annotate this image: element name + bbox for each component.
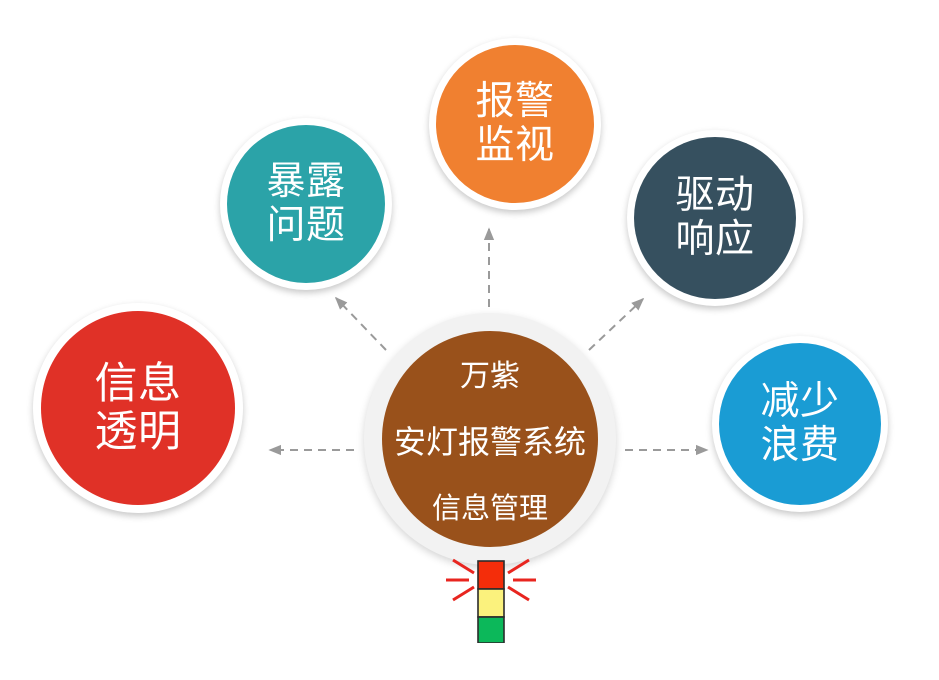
center-hub[interactable]: 万紫 安灯报警系统 信息管理 <box>364 313 616 565</box>
node-drive-response[interactable]: 驱动 响应 <box>627 130 803 306</box>
center-hub-line-1: 万紫 <box>460 351 520 395</box>
node-reduce-waste-label: 减少 浪费 <box>760 380 839 467</box>
andon-red-lamp <box>478 561 504 589</box>
node-info-transparent-disc: 信息 透明 <box>41 311 235 505</box>
node-info-transparent[interactable]: 信息 透明 <box>33 303 243 513</box>
node-reduce-waste-disc: 减少 浪费 <box>719 343 881 505</box>
node-info-transparent-label: 信息 透明 <box>95 360 182 456</box>
node-drive-response-disc: 驱动 响应 <box>634 137 796 299</box>
center-hub-line-2: 安灯报警系统 <box>394 417 586 463</box>
node-drive-response-label: 驱动 响应 <box>675 174 754 261</box>
diagram-canvas: 报警 监视 暴露 问题 驱动 响应 信息 透明 减少 浪费 万紫 安灯报警系统 … <box>0 0 939 680</box>
andon-tower-light-icon <box>441 548 541 643</box>
alarm-ray-group-left <box>446 560 474 600</box>
andon-yellow-lamp <box>478 589 504 617</box>
andon-green-lamp <box>478 617 504 643</box>
node-expose-problem-disc: 暴露 问题 <box>227 125 385 283</box>
node-expose-problem[interactable]: 暴露 问题 <box>220 118 392 290</box>
connector-arrow-up-right <box>589 299 643 350</box>
node-alarm-monitor-disc: 报警 监视 <box>436 45 594 203</box>
center-hub-line-3: 信息管理 <box>432 485 548 527</box>
node-expose-problem-label: 暴露 问题 <box>266 160 345 247</box>
connector-arrow-up-left <box>336 298 386 350</box>
alarm-ray-group-right <box>508 560 536 600</box>
node-alarm-monitor[interactable]: 报警 监视 <box>429 38 601 210</box>
node-reduce-waste[interactable]: 减少 浪费 <box>712 336 888 512</box>
node-alarm-monitor-label: 报警 监视 <box>475 80 554 167</box>
center-hub-disc: 万紫 安灯报警系统 信息管理 <box>382 331 598 547</box>
